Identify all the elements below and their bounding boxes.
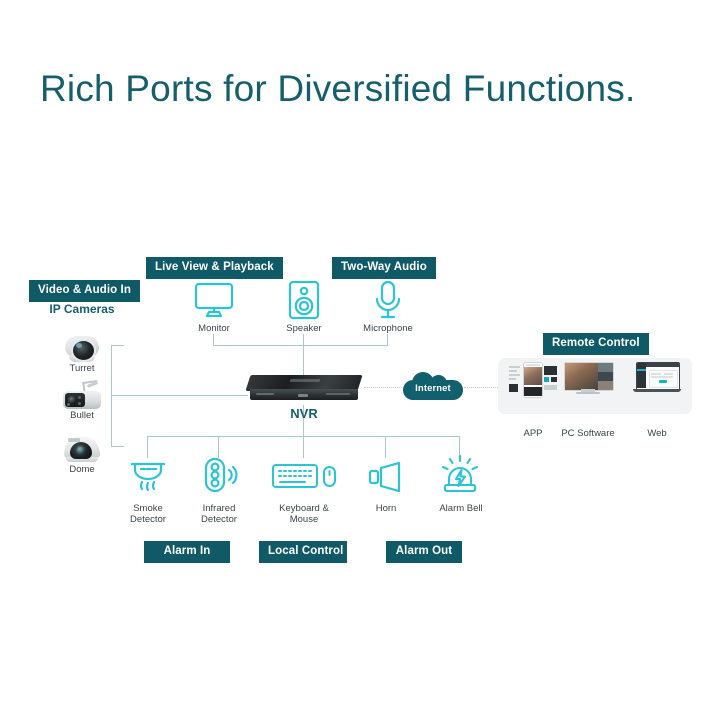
internet-label: Internet — [403, 383, 463, 394]
connector-monitor-drop — [213, 334, 214, 346]
connector-cameras-to-nvr — [111, 395, 248, 396]
badge-live-view-playback[interactable]: Live View & Playback — [146, 257, 283, 279]
connector-top-bus — [213, 345, 388, 346]
badge-two-way-audio[interactable]: Two-Way Audio — [332, 257, 436, 279]
badge-alarm-in[interactable]: Alarm In — [144, 541, 230, 563]
laptop-icon — [633, 362, 681, 394]
device-label-keyboard-mouse: Keyboard & Mouse — [271, 503, 337, 525]
device-label-monitor: Monitor — [184, 323, 244, 334]
smoke-detector-icon — [130, 458, 166, 499]
badge-alarm-out[interactable]: Alarm Out — [386, 541, 462, 563]
keyboard-mouse-icon — [271, 462, 337, 497]
badge-remote-control[interactable]: Remote Control — [543, 333, 649, 355]
nvr-label: NVR — [273, 406, 335, 421]
dome-camera-icon — [57, 428, 107, 466]
desktop-monitor-icon — [564, 362, 612, 394]
app-thumbnail-left — [509, 366, 520, 392]
cloud-icon: Internet — [403, 372, 463, 400]
monitor-icon — [193, 281, 235, 324]
ip-cameras-label: IP Cameras — [32, 302, 132, 316]
connector-keyboard-drop — [303, 436, 304, 458]
nvr-device-icon — [248, 375, 360, 405]
connector-smoke-drop — [147, 436, 148, 458]
remote-label-pc-software: PC Software — [558, 428, 618, 439]
page-title: Rich Ports for Diversified Functions. — [40, 68, 635, 110]
connector-internet-to-remote — [464, 387, 500, 388]
connector-microphone-drop — [387, 334, 388, 346]
diagram-canvas: Rich Ports for Diversified Functions. Vi… — [0, 0, 720, 720]
camera-label-turret: Turret — [52, 363, 112, 374]
turret-camera-icon — [57, 327, 107, 365]
connector-camera-dome — [111, 446, 124, 447]
connector-nvr-to-internet — [364, 387, 402, 388]
connector-top-to-nvr — [303, 345, 304, 375]
horn-icon — [368, 462, 404, 497]
device-label-microphone: Microphone — [358, 323, 418, 334]
smartphone-icon — [523, 362, 543, 398]
device-label-horn: Horn — [359, 503, 413, 514]
app-thumbnail-right — [544, 366, 557, 392]
remote-label-web: Web — [627, 428, 687, 439]
remote-label-app: APP — [503, 428, 563, 439]
infrared-detector-icon — [203, 457, 239, 500]
alarm-bell-icon — [440, 455, 480, 500]
camera-label-bullet: Bullet — [52, 410, 112, 421]
badge-local-control[interactable]: Local Control — [259, 541, 347, 563]
connector-infrared-drop — [218, 436, 219, 458]
connector-horn-drop — [385, 436, 386, 458]
device-label-alarm-bell: Alarm Bell — [430, 503, 492, 514]
device-label-infrared-detector: Infrared Detector — [188, 503, 250, 525]
camera-label-dome: Dome — [52, 464, 112, 475]
connector-camera-turret — [111, 345, 124, 346]
badge-video-audio-in[interactable]: Video & Audio In — [29, 280, 140, 302]
device-label-speaker: Speaker — [274, 323, 334, 334]
microphone-icon — [373, 280, 403, 325]
device-label-smoke-detector: Smoke Detector — [117, 503, 179, 525]
speaker-icon — [288, 280, 320, 325]
